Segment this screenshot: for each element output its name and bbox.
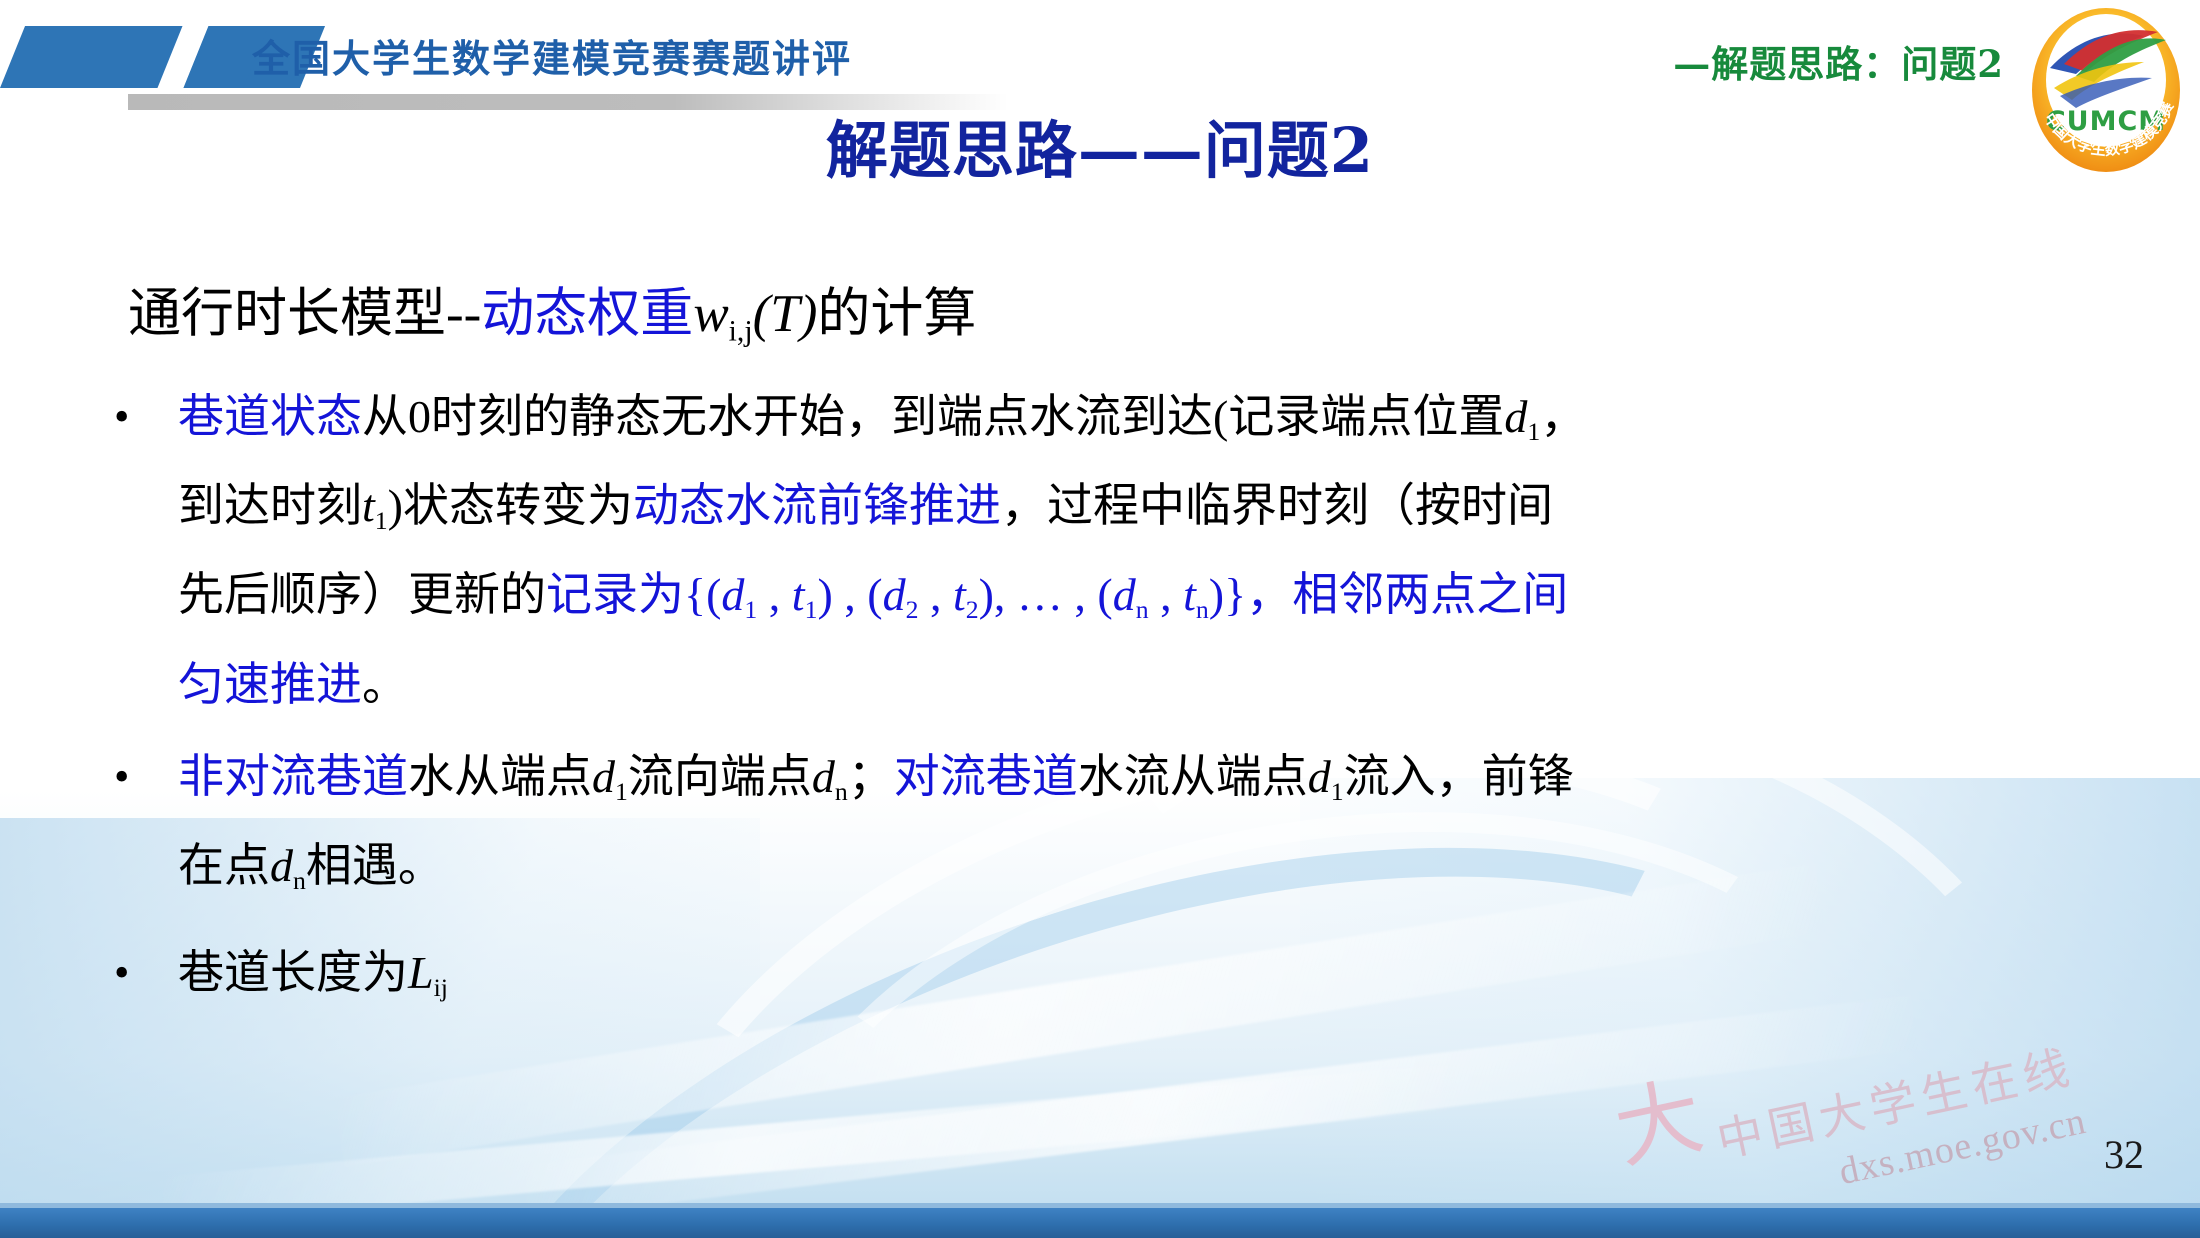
text-run: 水流从端点 [1078, 751, 1308, 802]
math-subscript: 1 [805, 596, 818, 625]
math-subscript: 1 [744, 596, 757, 625]
watermark-cn-text: 中国大学生在线 [1710, 1030, 2080, 1170]
math-subscript: 2 [906, 596, 919, 625]
text-run: 记录为 [546, 569, 684, 620]
text-run: 先后顺序）更新的 [178, 569, 546, 620]
bullet-line: 先后顺序）更新的记录为{(d1 , t1) , (d2 , t2), … , (… [178, 558, 2140, 647]
math-subscript: n [1136, 596, 1149, 625]
math-subscript: n [293, 866, 306, 895]
watermark: 中国大学生在线 dxs.moe.gov.cn [1710, 1030, 2090, 1217]
bullet-line: 巷道状态从0时刻的静态无水开始，到端点水流到达(记录端点位置d1， [178, 380, 2140, 469]
text-run: 到达时刻 [178, 480, 362, 531]
math-subscript: n [835, 777, 848, 806]
math-symbol: d [592, 751, 615, 802]
math-symbol: d [1504, 391, 1527, 442]
text-run: 。 [362, 659, 408, 710]
background-streak-2 [522, 995, 1918, 1220]
bullet-item: •巷道长度为Lij [108, 936, 2140, 1025]
math-subscript: n [1196, 596, 1209, 625]
text-run: 流入，前锋 [1344, 751, 1574, 802]
bullet-line: 到达时刻t1)状态转变为动态水流前锋推进，过程中临界时刻（按时间 [178, 469, 2140, 558]
math-symbol: d [1308, 751, 1331, 802]
text-run: 巷道长度为 [178, 947, 408, 998]
header-section-label: —解题思路：问题2 [1673, 34, 2004, 88]
bullet-line: 匀速推进。 [178, 648, 2140, 722]
bullet-item: •非对流巷道水从端点d1流向端点dn；对流巷道水流从端点d1流入，前锋在点dn相… [108, 740, 2140, 918]
bullet-text: 非对流巷道水从端点d1流向端点dn；对流巷道水流从端点d1流入，前锋在点dn相遇… [178, 740, 2140, 918]
math-symbol: t [1183, 569, 1196, 620]
text-run: 水从端点 [408, 751, 592, 802]
text-run: )状态转变为 [388, 480, 633, 531]
page-title: 解题思路——问题2 [0, 100, 2200, 190]
bullet-marker: • [108, 740, 178, 814]
math-subscript: 2 [966, 596, 979, 625]
bullet-text: 巷道状态从0时刻的静态无水开始，到端点水流到达(记录端点位置d1，到达时刻t1)… [178, 380, 2140, 722]
text-run: 对流巷道 [894, 751, 1078, 802]
text-run: 动态水流前锋推进 [633, 480, 1001, 531]
math-symbol: t [953, 569, 966, 620]
header-title: 全国大学生数学建模竞赛赛题讲评 [252, 28, 852, 83]
math-symbol: d [883, 569, 906, 620]
math-subscript: 1 [1331, 777, 1344, 806]
text-run: {( [684, 569, 721, 620]
text-run: ) , ( [817, 569, 882, 620]
watermark-glyph: 大 [1602, 1045, 1712, 1185]
math-symbol: d [721, 569, 744, 620]
subtitle-formula-w: w [693, 285, 728, 343]
footer-bar [0, 1208, 2200, 1238]
text-run: , [1149, 569, 1184, 620]
subtitle-part-2: 的计算 [817, 285, 976, 343]
slide-canvas: 全国大学生数学建模竞赛赛题讲评 —解题思路：问题2 CUMCM 中国大学生数学建… [0, 0, 2200, 1238]
text-run: ，过程中临界时刻（按时间 [1001, 480, 1553, 531]
subtitle-formula-T: (T) [753, 285, 818, 343]
math-symbol: d [812, 751, 835, 802]
subtitle-part-blue: 动态权重 [481, 285, 693, 343]
text-run: 流向端点 [628, 751, 812, 802]
background-streak-3 [160, 1063, 1459, 1224]
bullet-item: •巷道状态从0时刻的静态无水开始，到端点水流到达(记录端点位置d1，到达时刻t1… [108, 380, 2140, 722]
text-run: ， [1540, 391, 1586, 442]
text-run: ), … , ( [979, 569, 1113, 620]
text-run: 在点 [178, 840, 270, 891]
subtitle-part-1: 通行时长模型-- [128, 285, 481, 343]
subtitle-formula-w-sub: i,j [729, 315, 753, 347]
math-subscript: 1 [615, 777, 628, 806]
page-number: 32 [2104, 1131, 2144, 1178]
math-symbol: d [270, 840, 293, 891]
math-symbol: t [362, 480, 375, 531]
bullet-line: 巷道长度为Lij [178, 936, 2140, 1025]
text-run: ； [848, 751, 894, 802]
math-subscript: ij [434, 973, 448, 1002]
bullet-marker: • [108, 380, 178, 454]
bullet-spacer [108, 918, 2140, 936]
math-symbol: d [1113, 569, 1136, 620]
bullet-spacer [108, 722, 2140, 740]
bullet-line: 在点dn相遇。 [178, 829, 2140, 918]
math-symbol: L [408, 947, 434, 998]
bullet-marker: • [108, 936, 178, 1010]
text-run: )}， [1209, 569, 1292, 620]
text-run: 巷道状态 [178, 391, 362, 442]
math-subscript: 1 [375, 506, 388, 535]
bullet-line: 非对流巷道水从端点d1流向端点dn；对流巷道水流从端点d1流入，前锋 [178, 740, 2140, 829]
bullet-text: 巷道长度为Lij [178, 936, 2140, 1025]
text-run: 非对流巷道 [178, 751, 408, 802]
text-run: , [757, 569, 792, 620]
text-run: 相遇。 [306, 840, 444, 891]
text-run: 从0时刻的静态无水开始，到端点水流到达(记录端点位置 [362, 391, 1504, 442]
math-subscript: 1 [1527, 417, 1540, 446]
math-symbol: t [792, 569, 805, 620]
watermark-url-text: dxs.moe.gov.cn [1725, 1099, 2090, 1218]
text-run: 相邻两点之间 [1292, 569, 1568, 620]
text-run: 匀速推进 [178, 659, 362, 710]
text-run: , [918, 569, 953, 620]
subtitle-line: 通行时长模型--动态权重wi,j(T)的计算 [128, 288, 976, 347]
bullet-list: •巷道状态从0时刻的静态无水开始，到端点水流到达(记录端点位置d1，到达时刻t1… [108, 380, 2140, 1025]
